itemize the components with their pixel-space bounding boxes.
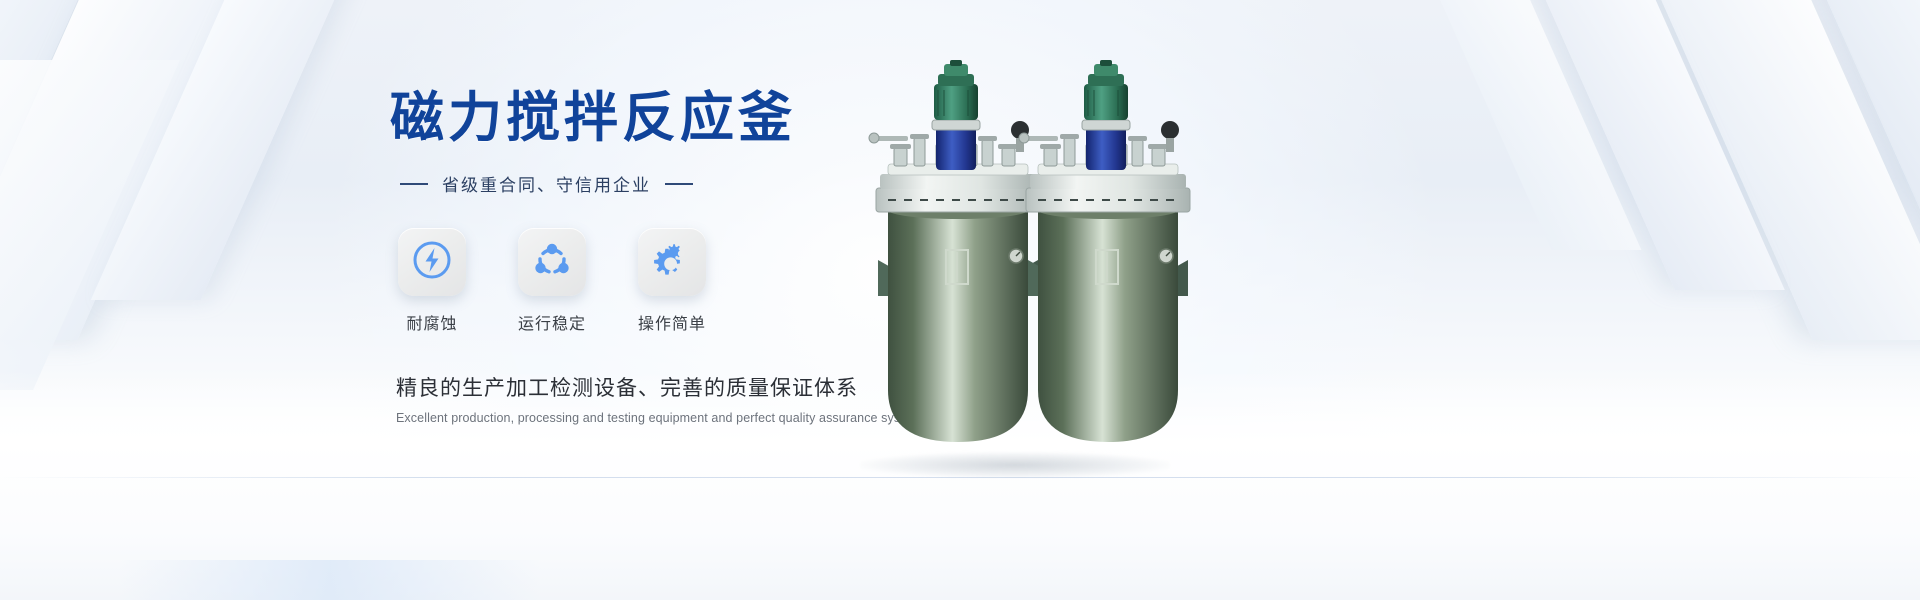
- feature-list: 耐腐蚀 运行稳定: [398, 228, 910, 334]
- hero-banner: 磁力搅拌反应釜 省级重合同、守信用企业 耐腐蚀: [0, 0, 1920, 600]
- subtitle-dash-left: [400, 183, 428, 185]
- subtitle-text: 省级重合同、守信用企业: [442, 171, 651, 196]
- subtitle-dash-right: [665, 183, 693, 185]
- tagline-english: Excellent production, processing and tes…: [396, 411, 910, 425]
- feature-label: 操作简单: [638, 310, 706, 334]
- subtitle-row: 省级重合同、守信用企业: [400, 171, 910, 196]
- tagline-chinese: 精良的生产加工检测设备、完善的质量保证体系: [396, 372, 910, 402]
- feature-tile: [638, 228, 706, 296]
- feature-tile: [518, 228, 586, 296]
- feature-item-stable-operation[interactable]: 运行稳定: [518, 228, 586, 334]
- bg-floor-tint: [120, 560, 540, 600]
- gears-icon: [650, 238, 694, 287]
- feature-item-simple-operation[interactable]: 操作简单: [638, 228, 706, 334]
- magnetic-stirring-reactor-unit-right: [1000, 60, 1220, 460]
- product-image-group: [840, 60, 1220, 460]
- feature-label: 运行稳定: [518, 310, 586, 334]
- three-node-network-icon: [530, 238, 574, 287]
- feature-tile: [398, 228, 466, 296]
- lightning-bolt-icon: [410, 238, 454, 287]
- feature-item-corrosion-resistant[interactable]: 耐腐蚀: [398, 228, 466, 334]
- feature-label: 耐腐蚀: [398, 310, 466, 334]
- page-title: 磁力搅拌反应釜: [390, 88, 910, 147]
- banner-content: 磁力搅拌反应釜 省级重合同、守信用企业 耐腐蚀: [390, 88, 910, 425]
